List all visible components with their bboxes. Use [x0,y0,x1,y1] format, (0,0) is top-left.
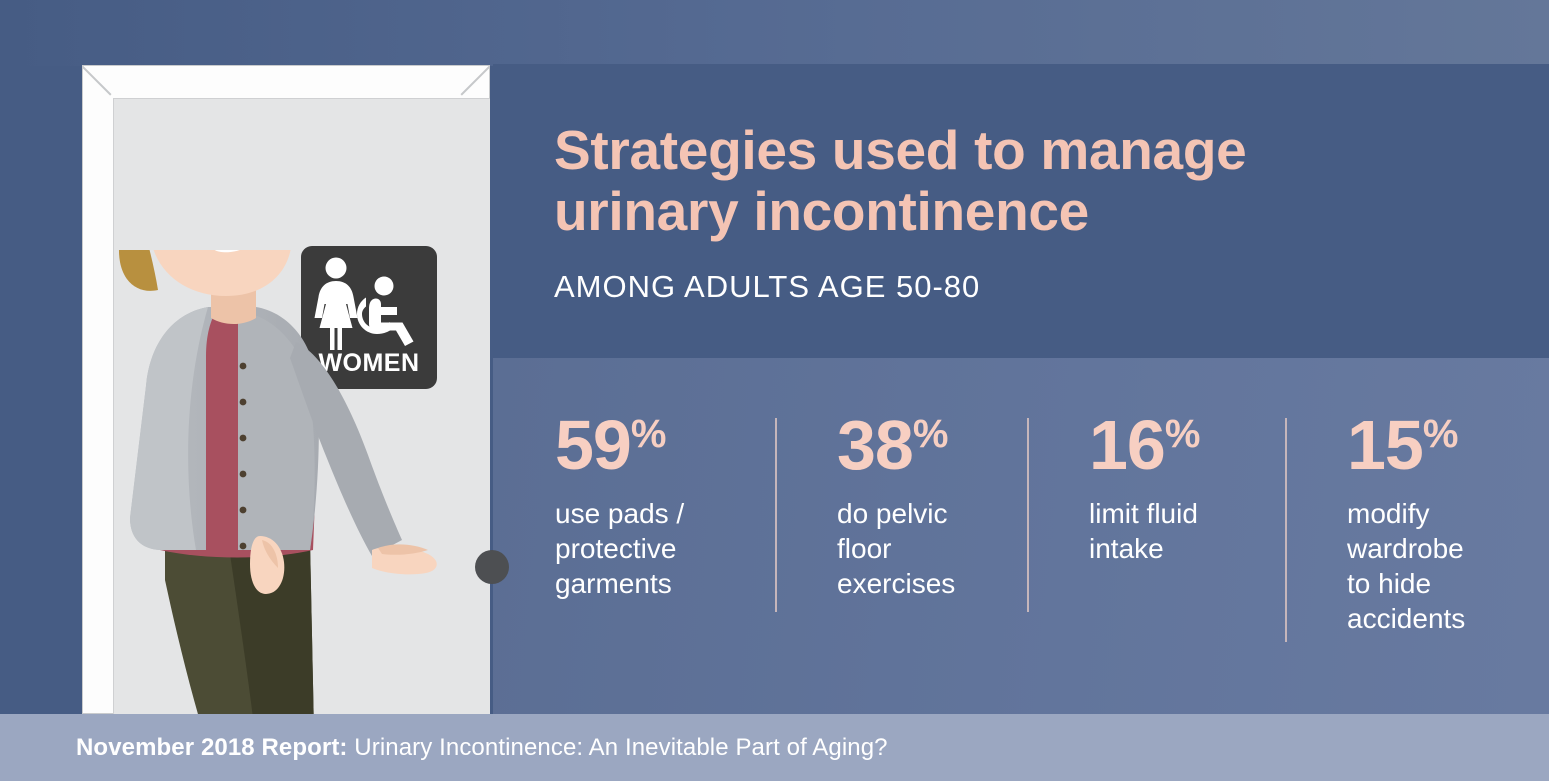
page-title-line1: Strategies used to manage [554,119,1246,181]
woman-illustration [110,250,440,779]
stat-number: 38 [837,406,913,484]
footer-report-title: Urinary Incontinence: An Inevitable Part… [348,734,888,761]
door-frame-mitre-left [83,66,117,100]
stat-number: 16 [1089,406,1165,484]
stat-value: 15% [1347,410,1549,480]
percent-symbol: % [631,412,667,456]
stat-divider [775,418,777,612]
percent-symbol: % [913,412,949,456]
stat-number: 59 [555,406,631,484]
headline-block: Strategies used to manage urinary incont… [554,120,1434,305]
stat-label: use pads / protective garments [555,496,775,601]
door-frame-mitre-right [455,66,489,100]
infographic-canvas: WOMEN [0,0,1549,781]
door-illustration: WOMEN [82,65,490,714]
stat-label: limit fluid intake [1089,496,1285,566]
stat-item-wardrobe: 15% modify wardrobe to hide accidents [1285,410,1549,636]
footer-bar: November 2018 Report: Urinary Incontinen… [0,714,1549,781]
percent-symbol: % [1423,412,1459,456]
stat-value: 16% [1089,410,1285,480]
stat-label: modify wardrobe to hide accidents [1347,496,1549,636]
background-top-strip [0,0,1549,66]
page-title: Strategies used to manage urinary incont… [554,120,1434,242]
footer-report-line: November 2018 Report: Urinary Incontinen… [76,734,888,762]
percent-symbol: % [1165,412,1201,456]
stat-item-fluid-intake: 16% limit fluid intake [1027,410,1285,566]
right-hand-shape [372,544,437,574]
stat-number: 15 [1347,406,1423,484]
footer-report-prefix: November 2018 Report: [76,734,348,761]
statistics-row: 59% use pads / protective garments 38% d… [493,410,1549,660]
stat-value: 38% [837,410,1027,480]
stat-item-pads: 59% use pads / protective garments [493,410,775,601]
stat-label: do pelvic floor exercises [837,496,1027,601]
page-title-line2: urinary incontinence [554,180,1089,242]
head-shape [150,250,292,296]
stat-value: 59% [555,410,775,480]
stat-divider [1285,418,1287,642]
stat-divider [1027,418,1029,612]
stat-item-pelvic-floor: 38% do pelvic floor exercises [775,410,1027,601]
page-subtitle: AMONG ADULTS AGE 50-80 [554,269,1434,305]
